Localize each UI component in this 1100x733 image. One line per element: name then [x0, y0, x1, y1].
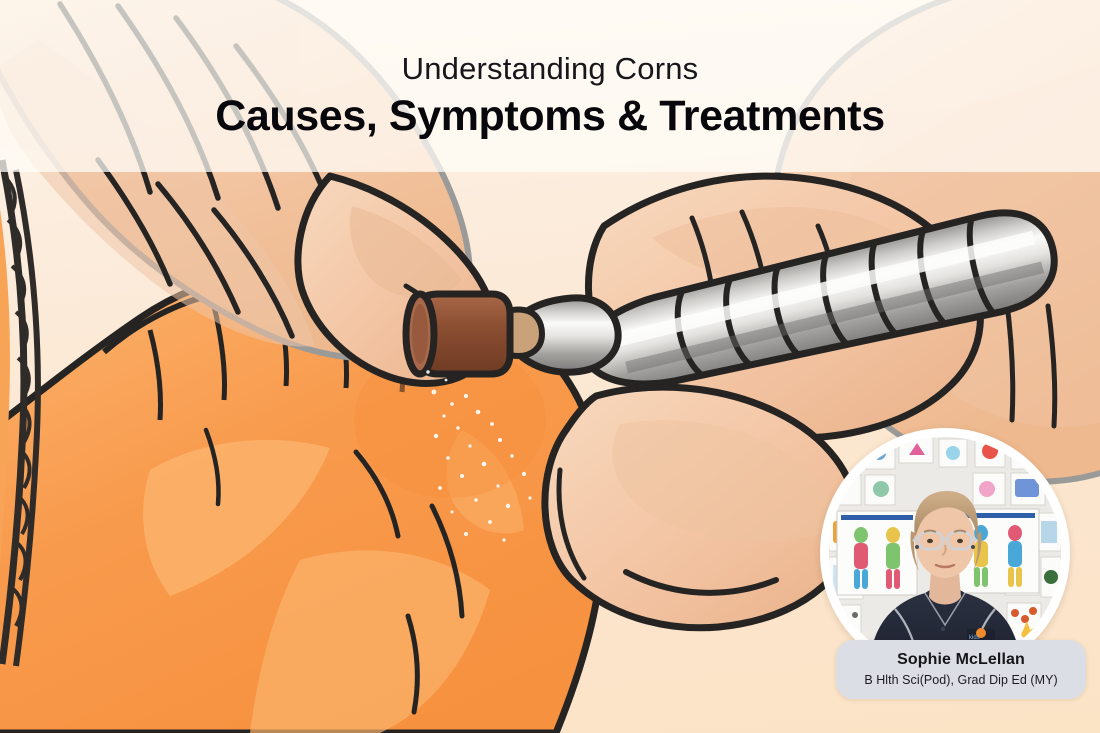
drill-burr-tip [406, 294, 510, 374]
practitioner-card: kids [816, 428, 1088, 708]
practitioner-credentials: B Hlth Sci(Pod), Grad Dip Ed (MY) [844, 672, 1078, 688]
page-title: Causes, Symptoms & Treatments [0, 92, 1100, 140]
practitioner-name: Sophie McLellan [844, 650, 1078, 670]
kicker-text: Understanding Corns [0, 52, 1100, 86]
practitioner-name-card: Sophie McLellan B Hlth Sci(Pod), Grad Di… [836, 640, 1086, 699]
hero-banner: Understanding Corns Causes, Symptoms & T… [0, 0, 1100, 733]
title-block: Understanding Corns Causes, Symptoms & T… [0, 52, 1100, 140]
avatar: kids [829, 437, 1061, 669]
